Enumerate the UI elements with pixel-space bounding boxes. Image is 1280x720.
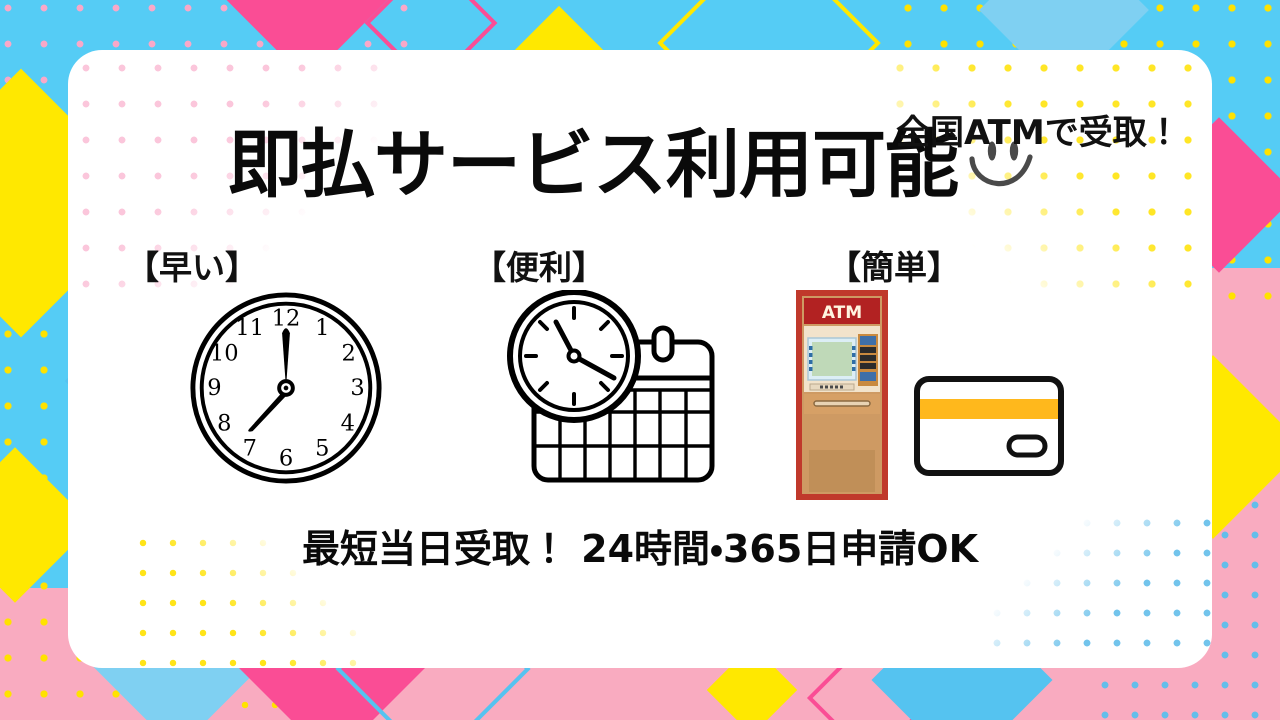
page-title: 即払サービス利用可能 [228, 128, 958, 202]
icon-slot-atm: ATM [796, 290, 888, 505]
feature-labels-row: 【早い】 【便利】 【簡単】 [68, 248, 1212, 292]
credit-card-icon [913, 375, 1065, 477]
svg-text:8: 8 [217, 410, 231, 436]
svg-text:4: 4 [341, 410, 355, 436]
svg-text:7: 7 [243, 436, 257, 462]
svg-text:1: 1 [315, 315, 329, 341]
feature-icons-row: 12 1 2 3 4 5 6 7 8 9 10 11 [68, 290, 1212, 510]
feature-label-fast: 【早い】 [126, 248, 258, 288]
atm-sign-text: ATM [822, 303, 862, 323]
svg-text:11: 11 [235, 315, 264, 341]
analog-clock-icon: 12 1 2 3 4 5 6 7 8 9 10 11 [188, 290, 384, 486]
svg-text:12: 12 [272, 305, 301, 331]
feature-label-easy: 【簡単】 [828, 248, 960, 288]
poster-content: 即払サービス利用可能 【早い】 【便利】 【簡単】 12 [68, 50, 1212, 668]
icon-slot-clock: 12 1 2 3 4 5 6 7 8 9 10 11 [188, 290, 384, 491]
svg-text:10: 10 [210, 341, 239, 367]
atm-machine-icon: ATM [796, 290, 888, 500]
atm-caption: 全国ATMで受取！ [896, 105, 1181, 154]
poster-canvas: 即払サービス利用可能 【早い】 【便利】 【簡単】 12 [0, 0, 1280, 720]
icon-slot-credit-card [913, 375, 1065, 482]
svg-text:5: 5 [315, 436, 329, 462]
calendar-clock-icon [498, 290, 724, 490]
bottom-tagline: 最短当日受取！ 24時間・365日申請OK [68, 518, 1212, 573]
icon-slot-calendar-clock [498, 290, 724, 495]
feature-label-convenient: 【便利】 [473, 248, 605, 288]
svg-text:2: 2 [342, 341, 356, 367]
svg-text:6: 6 [279, 446, 293, 472]
svg-text:3: 3 [350, 375, 364, 401]
svg-text:9: 9 [207, 375, 221, 401]
